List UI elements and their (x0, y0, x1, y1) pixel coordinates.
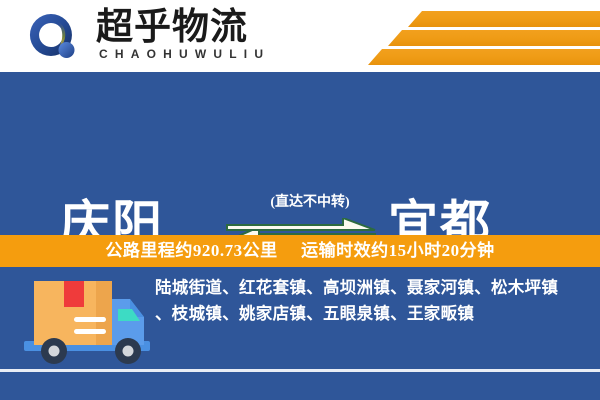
coverage-line-2: 、枝城镇、姚家店镇、五眼泉镇、王家畈镇 (155, 301, 591, 327)
coverage-panel: 陆城街道、红花套镇、高坝洲镇、聂家河镇、松木坪镇 、枝城镇、姚家店镇、五眼泉镇、… (0, 267, 600, 400)
stripe-2 (388, 30, 600, 46)
coverage-area-list: 陆城街道、红花套镇、高坝洲镇、聂家河镇、松木坪镇 、枝城镇、姚家店镇、五眼泉镇、… (155, 275, 591, 327)
coverage-line-1: 陆城街道、红花套镇、高坝洲镇、聂家河镇、松木坪镇 (155, 275, 591, 301)
logistics-route-banner: 超乎物流 CHAOHUWULIU 庆阳 (直达不中转) 【往返运输】 宜都 公路… (0, 0, 600, 400)
stripe-1 (408, 11, 600, 27)
stripe-3 (368, 49, 600, 65)
circle-q-logo-icon (28, 12, 84, 64)
road-divider-line (0, 369, 600, 372)
orange-speed-stripes-icon (330, 0, 600, 72)
info-bar-content: 公路里程约920.73公里 运输时效约15小时20分钟 (105, 241, 494, 261)
route-note-direct: (直达不中转) (240, 194, 380, 212)
duration-text: 运输时效约15小时20分钟 (301, 241, 495, 260)
brand-name-en: CHAOHUWULIU (99, 47, 270, 61)
banner-header: 超乎物流 CHAOHUWULIU (0, 0, 600, 72)
distance-text: 公路里程约920.73公里 (105, 241, 277, 260)
delivery-truck-icon (18, 273, 158, 371)
route-panel: 庆阳 (直达不中转) 【往返运输】 宜都 (0, 72, 600, 235)
route-info-bar: 公路里程约920.73公里 运输时效约15小时20分钟 (0, 235, 600, 267)
brand-name-cn: 超乎物流 (96, 8, 248, 48)
